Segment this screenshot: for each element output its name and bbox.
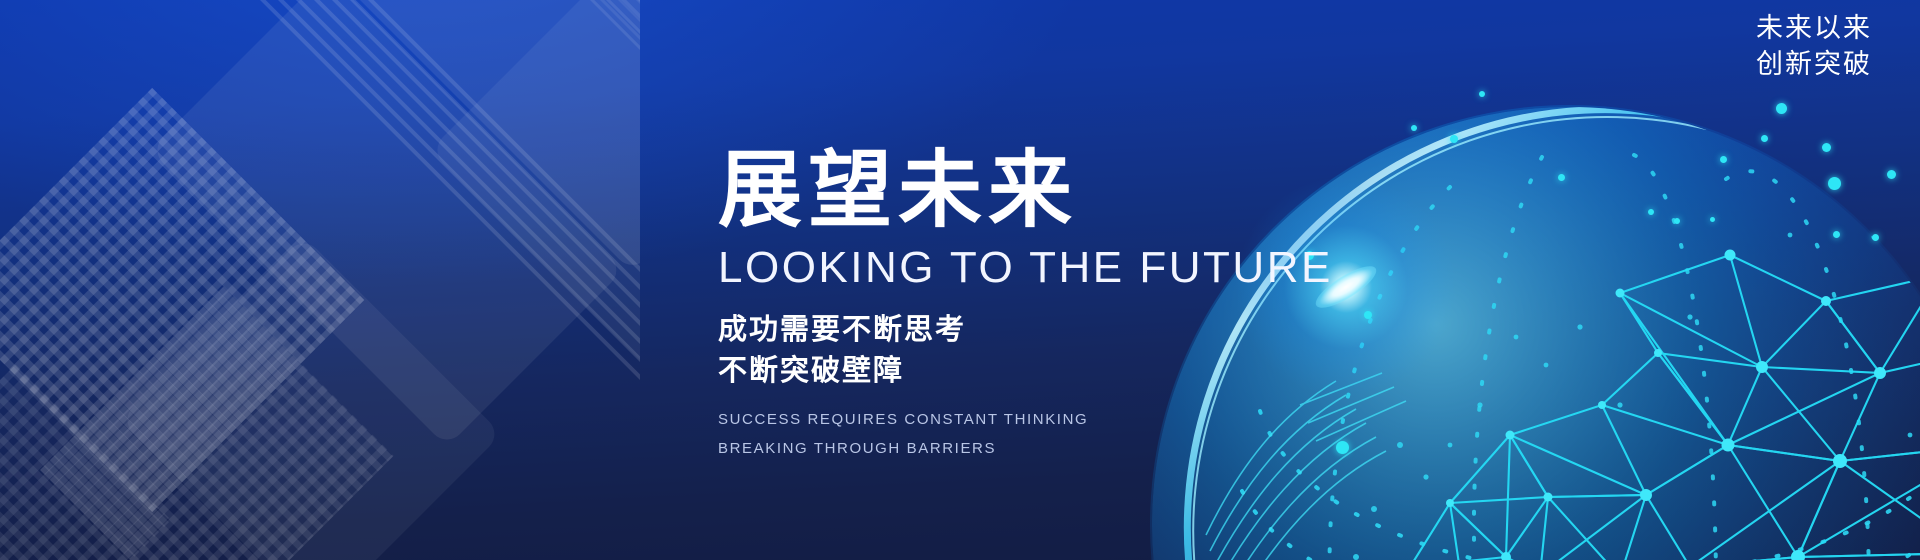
subtitle-chinese: 成功需要不断思考 不断突破壁障 xyxy=(718,310,1478,392)
particle xyxy=(1558,174,1565,181)
decor-card-5 xyxy=(120,236,502,560)
decor-card-3 xyxy=(430,0,640,383)
decor-stripe xyxy=(378,0,640,433)
decor-stripe xyxy=(150,0,640,436)
particle xyxy=(1411,125,1417,131)
particle xyxy=(1674,218,1680,224)
particle xyxy=(1776,103,1787,114)
decor-card-4 xyxy=(560,0,640,42)
decor-stripe xyxy=(506,0,640,433)
decor-dot-grid xyxy=(0,364,171,560)
decor-stripe xyxy=(426,0,640,433)
particle xyxy=(1822,143,1831,152)
caption-english-line-1: SUCCESS REQUIRES CONSTANT THINKING xyxy=(718,406,1478,435)
page-title-english: LOOKING TO THE FUTURE xyxy=(718,246,1478,290)
corner-slogan-line-1: 未来以来 xyxy=(1756,10,1872,46)
decor-stripe xyxy=(600,0,640,495)
caption-english: SUCCESS REQUIRES CONSTANT THINKING BREAK… xyxy=(718,406,1478,463)
decor-card-1 xyxy=(300,0,640,272)
diagonal-geometric-pattern xyxy=(0,0,640,560)
particle xyxy=(1828,177,1841,190)
decor-stripe xyxy=(362,0,640,433)
decor-stripe xyxy=(114,0,640,436)
decor-stripe xyxy=(636,0,640,495)
particle xyxy=(1710,217,1715,222)
particle xyxy=(1720,156,1727,163)
decor-stripe xyxy=(474,0,640,433)
particle xyxy=(1833,231,1840,238)
headline-block: 展望未来 LOOKING TO THE FUTURE 成功需要不断思考 不断突破… xyxy=(718,148,1478,463)
decor-stripe xyxy=(410,0,640,433)
decor-dot-grid xyxy=(0,88,364,512)
decor-stripe xyxy=(96,0,640,436)
decor-stripe xyxy=(458,0,640,433)
decor-stripe xyxy=(168,0,640,436)
particle xyxy=(1648,209,1654,215)
decor-stripe xyxy=(618,0,640,495)
corner-slogan: 未来以来 创新突破 xyxy=(1756,10,1872,83)
decor-stripe xyxy=(346,0,640,433)
decor-stripe xyxy=(78,0,640,436)
corner-slogan-line-2: 创新突破 xyxy=(1756,46,1872,82)
decor-stripe xyxy=(394,0,640,433)
particle xyxy=(1872,234,1879,241)
decor-stripe xyxy=(60,0,640,436)
decor-card-2 xyxy=(150,0,624,447)
decor-dot-grid xyxy=(40,286,394,560)
decor-stripe xyxy=(132,0,640,436)
decor-stripe xyxy=(490,0,640,433)
subtitle-chinese-line-2: 不断突破壁障 xyxy=(718,351,1478,392)
particle xyxy=(1887,170,1896,179)
particle xyxy=(1450,135,1458,143)
particle xyxy=(1761,135,1768,142)
particle xyxy=(1479,91,1485,97)
hero-banner: 展望未来 LOOKING TO THE FUTURE 成功需要不断思考 不断突破… xyxy=(0,0,1920,560)
decor-stripe xyxy=(330,0,640,433)
decor-stripe xyxy=(442,0,640,433)
caption-english-line-2: BREAKING THROUGH BARRIERS xyxy=(718,435,1478,464)
subtitle-chinese-line-1: 成功需要不断思考 xyxy=(718,310,1478,351)
page-title: 展望未来 xyxy=(718,148,1478,232)
